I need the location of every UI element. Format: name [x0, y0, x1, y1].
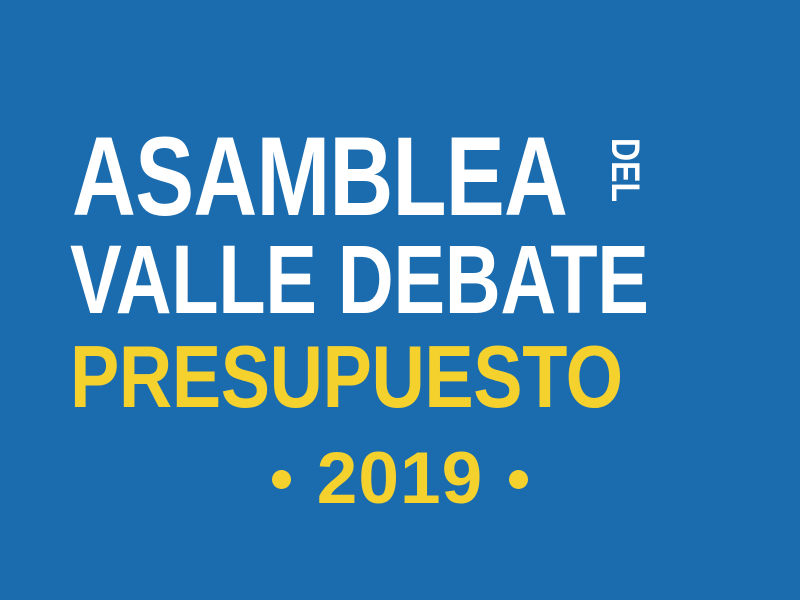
poster-canvas: ASAMBLEA DEL VALLE DEBATE PRESUPUESTO 20…: [0, 0, 800, 600]
word-asamblea: ASAMBLEA: [72, 133, 567, 221]
word-del-rotated: DEL: [606, 138, 644, 202]
bullet-dot-right-icon: [509, 470, 528, 489]
bullet-dot-left-icon: [272, 470, 291, 489]
year-line: 2019: [0, 447, 800, 511]
rotated-word-del-container: DEL: [584, 138, 648, 224]
headline-line-valle-debate: VALLE DEBATE: [70, 241, 649, 319]
headline-line-presupuesto: PRESUPUESTO: [70, 341, 623, 413]
year-text: 2019: [317, 449, 483, 509]
